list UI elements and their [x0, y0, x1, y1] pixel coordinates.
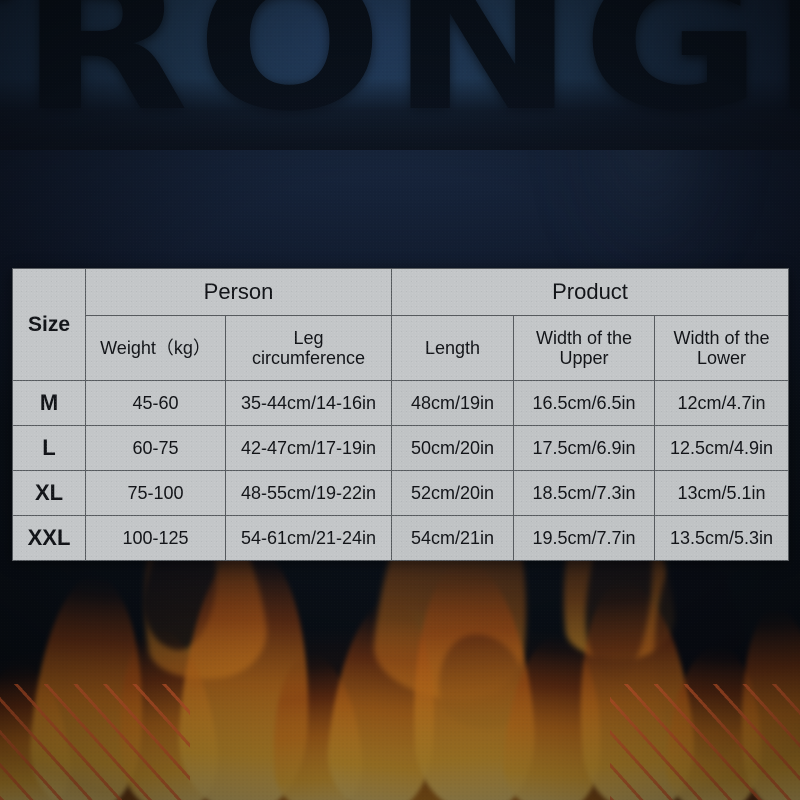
- cell-length: 48cm/19in: [392, 381, 514, 426]
- cell-width-upper: 16.5cm/6.5in: [514, 381, 655, 426]
- header-leg-line1: Leg: [293, 328, 323, 348]
- header-weight-line1: Weight（kg）: [100, 338, 211, 358]
- header-lower-line2: Lower: [697, 348, 746, 368]
- cell-size: L: [13, 426, 86, 471]
- header-upper-line1: Width of the: [536, 328, 632, 348]
- header-cell-leg-circumference: Leg circumference: [226, 316, 392, 381]
- cell-width-lower: 13.5cm/5.3in: [655, 516, 789, 561]
- table-row: XL 75-100 48-55cm/19-22in 52cm/20in 18.5…: [13, 471, 789, 516]
- cell-weight: 75-100: [86, 471, 226, 516]
- cell-weight: 45-60: [86, 381, 226, 426]
- header-cell-weight: Weight（kg）: [86, 316, 226, 381]
- cell-width-lower: 13cm/5.1in: [655, 471, 789, 516]
- cell-size: XXL: [13, 516, 86, 561]
- cell-width-upper: 18.5cm/7.3in: [514, 471, 655, 516]
- header-length-line1: Length: [425, 338, 480, 358]
- banner-region: STRONGER: [0, 0, 800, 150]
- size-chart-table-container: Size Person Product Weight（kg） Leg circu…: [12, 268, 788, 561]
- banner-fade: [0, 78, 800, 150]
- cell-leg-circumference: 54-61cm/21-24in: [226, 516, 392, 561]
- cell-leg-circumference: 35-44cm/14-16in: [226, 381, 392, 426]
- cell-weight: 100-125: [86, 516, 226, 561]
- header-leg-line2: circumference: [252, 348, 365, 368]
- cell-width-lower: 12cm/4.7in: [655, 381, 789, 426]
- cell-leg-circumference: 48-55cm/19-22in: [226, 471, 392, 516]
- cell-length: 54cm/21in: [392, 516, 514, 561]
- header-group-product: Product: [392, 269, 789, 316]
- size-chart-table: Size Person Product Weight（kg） Leg circu…: [12, 268, 789, 561]
- cell-size: XL: [13, 471, 86, 516]
- table-row: M 45-60 35-44cm/14-16in 48cm/19in 16.5cm…: [13, 381, 789, 426]
- table-row: XXL 100-125 54-61cm/21-24in 54cm/21in 19…: [13, 516, 789, 561]
- cell-width-upper: 19.5cm/7.7in: [514, 516, 655, 561]
- fire-region: [0, 520, 800, 800]
- header-upper-line2: Upper: [559, 348, 608, 368]
- cell-leg-circumference: 42-47cm/17-19in: [226, 426, 392, 471]
- cell-length: 50cm/20in: [392, 426, 514, 471]
- cell-length: 52cm/20in: [392, 471, 514, 516]
- cell-weight: 60-75: [86, 426, 226, 471]
- header-cell-width-lower: Width of the Lower: [655, 316, 789, 381]
- table-row: L 60-75 42-47cm/17-19in 50cm/20in 17.5cm…: [13, 426, 789, 471]
- table-group-header-row: Size Person Product: [13, 269, 789, 316]
- cell-width-upper: 17.5cm/6.9in: [514, 426, 655, 471]
- table-sub-header-row: Weight（kg） Leg circumference Length Widt…: [13, 316, 789, 381]
- header-cell-size: Size: [13, 269, 86, 381]
- header-cell-length: Length: [392, 316, 514, 381]
- header-cell-width-upper: Width of the Upper: [514, 316, 655, 381]
- header-group-person: Person: [86, 269, 392, 316]
- cell-size: M: [13, 381, 86, 426]
- cell-width-lower: 12.5cm/4.9in: [655, 426, 789, 471]
- header-lower-line1: Width of the: [673, 328, 769, 348]
- product-size-chart-image: STRONGER: [0, 0, 800, 800]
